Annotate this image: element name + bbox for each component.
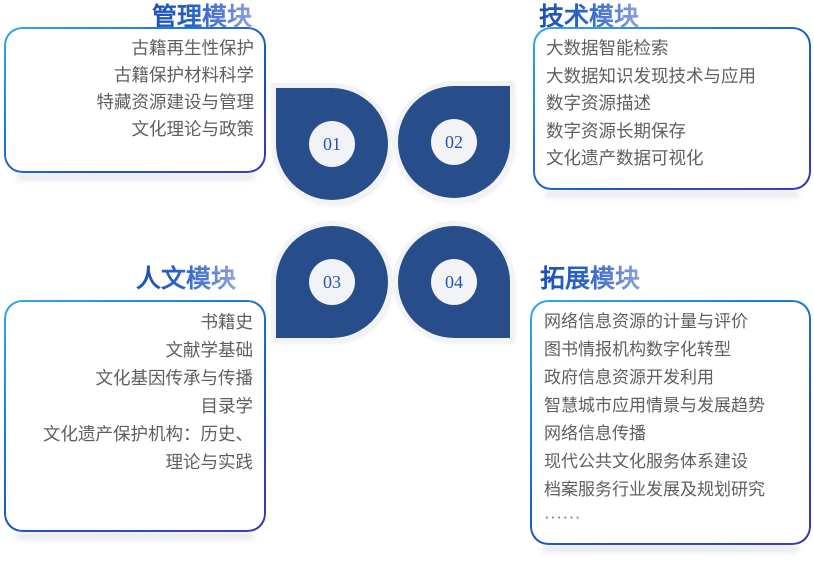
petal-shape-01[interactable]: 01 xyxy=(276,88,388,200)
module-title-humanities: 人文模块 xyxy=(136,264,236,294)
list-item: 大数据智能检索 xyxy=(546,35,801,63)
module-card-humanities: 书籍史 文献学基础 文化基因传承与传播 目录学 文化遗产保护机构：历史、 理论与… xyxy=(4,300,266,532)
card-shadow-management xyxy=(16,174,254,180)
petal-number-02: 02 xyxy=(431,119,477,165)
list-item: 文化理论与政策 xyxy=(14,116,254,143)
list-item: 文化基因传承与传播 xyxy=(14,364,253,392)
list-item: 网络信息资源的计量与评价 xyxy=(544,308,801,336)
list-item: 图书情报机构数字化转型 xyxy=(544,336,801,364)
list-item: 政府信息资源开发利用 xyxy=(544,364,801,392)
card-shadow-expansion xyxy=(542,546,799,552)
list-item: 智慧城市应用情景与发展趋势 xyxy=(544,392,811,420)
list-item: 理论与实践 xyxy=(14,448,253,476)
list-item: 大数据知识发现技术与应用 xyxy=(546,63,801,91)
list-item: 文化遗产保护机构：历史、 xyxy=(2,420,253,448)
module-card-management: 古籍再生性保护 古籍保护材料科学 特藏资源建设与管理 文化理论与政策 xyxy=(4,27,266,173)
card-shadow-technology xyxy=(545,191,799,197)
list-item: 数字资源描述 xyxy=(546,90,801,118)
petal-number-03: 03 xyxy=(309,259,355,305)
list-item: 古籍再生性保护 xyxy=(14,35,254,62)
module-title-expansion: 拓展模块 xyxy=(540,264,640,294)
course-list-humanities: 书籍史 文献学基础 文化基因传承与传播 目录学 文化遗产保护机构：历史、 理论与… xyxy=(14,308,256,476)
module-card-expansion: 网络信息资源的计量与评价 图书情报机构数字化转型 政府信息资源开发利用 智慧城市… xyxy=(530,300,811,545)
course-list-expansion: 网络信息资源的计量与评价 图书情报机构数字化转型 政府信息资源开发利用 智慧城市… xyxy=(540,308,801,532)
list-item: 现代公共文化服务体系建设 xyxy=(544,448,801,476)
list-item: 档案服务行业发展及规划研究 xyxy=(544,476,801,504)
list-item: 文化遗产数据可视化 xyxy=(546,145,801,173)
petal-shape-03[interactable]: 03 xyxy=(276,226,388,338)
petal-shape-02[interactable]: 02 xyxy=(398,86,510,198)
petal-cluster: 01 02 03 04 xyxy=(268,80,538,370)
list-item: 古籍保护材料科学 xyxy=(14,62,254,89)
list-item: 特藏资源建设与管理 xyxy=(14,89,254,116)
list-item: 数字资源长期保存 xyxy=(546,118,801,146)
course-list-technology: 大数据智能检索 大数据知识发现技术与应用 数字资源描述 数字资源长期保存 文化遗… xyxy=(543,35,801,173)
petal-shape-04[interactable]: 04 xyxy=(398,226,510,338)
petal-number-01: 01 xyxy=(309,121,355,167)
list-item: 文献学基础 xyxy=(14,336,253,364)
petal-number-04: 04 xyxy=(431,259,477,305)
module-card-technology: 大数据智能检索 大数据知识发现技术与应用 数字资源描述 数字资源长期保存 文化遗… xyxy=(533,27,811,190)
list-item: 目录学 xyxy=(14,392,253,420)
list-item: 网络信息传播 xyxy=(544,420,801,448)
ellipsis-indicator: ······ xyxy=(544,504,801,532)
card-shadow-humanities xyxy=(16,533,254,539)
list-item: 书籍史 xyxy=(14,308,253,336)
course-list-management: 古籍再生性保护 古籍保护材料科学 特藏资源建设与管理 文化理论与政策 xyxy=(14,35,256,143)
